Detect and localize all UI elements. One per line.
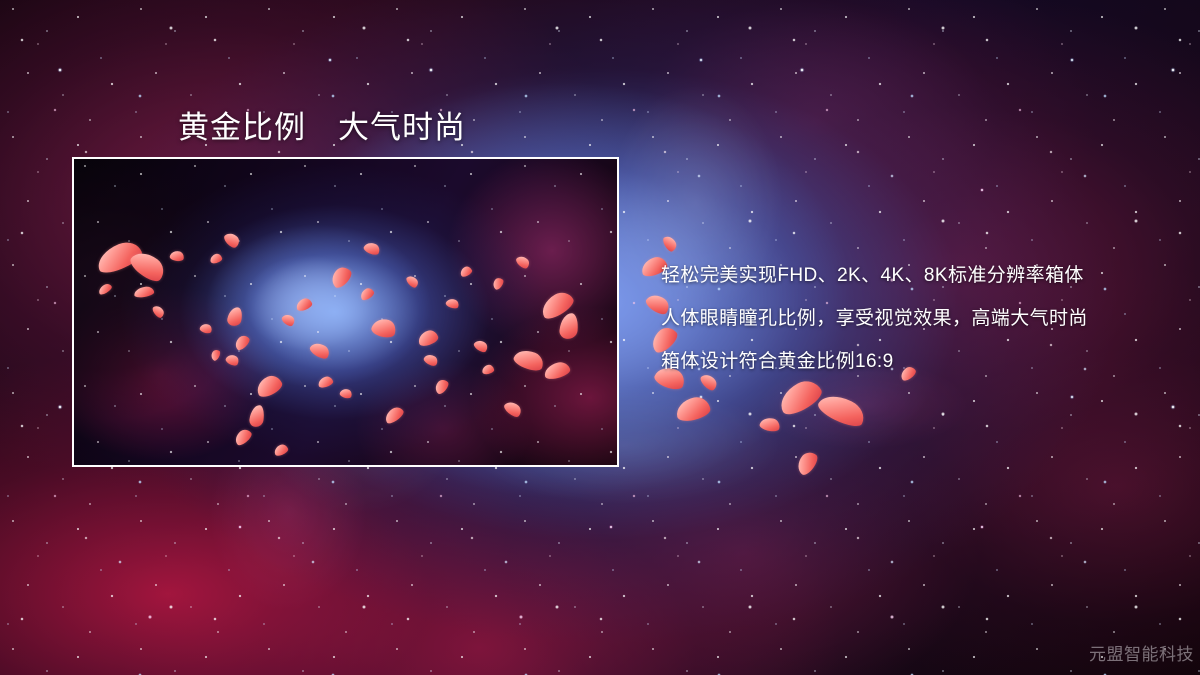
petal — [674, 395, 712, 424]
body-text-block: 轻松完美实现FHD、2K、4K、8K标准分辨率箱体 人体眼睛瞳孔比例，享受视觉效… — [661, 254, 1088, 383]
petal — [661, 234, 678, 253]
slide-canvas: 黄金比例 大气时尚 轻松完美实现FHD、2K、4K、8K标准分辨率箱体 人体眼睛… — [0, 0, 1200, 675]
body-line-2: 人体眼睛瞳孔比例，享受视觉效果，高端大气时尚 — [661, 297, 1088, 340]
page-title: 黄金比例 大气时尚 — [178, 102, 466, 147]
petal — [793, 449, 820, 478]
petal — [815, 389, 869, 432]
body-line-3: 箱体设计符合黄金比例16:9 — [661, 340, 1088, 383]
body-line-1: 轻松完美实现FHD、2K、4K、8K标准分辨率箱体 — [661, 254, 1088, 297]
petal — [759, 416, 782, 433]
framed-image — [72, 157, 619, 467]
watermark: 元盟智能科技 — [1089, 640, 1194, 665]
